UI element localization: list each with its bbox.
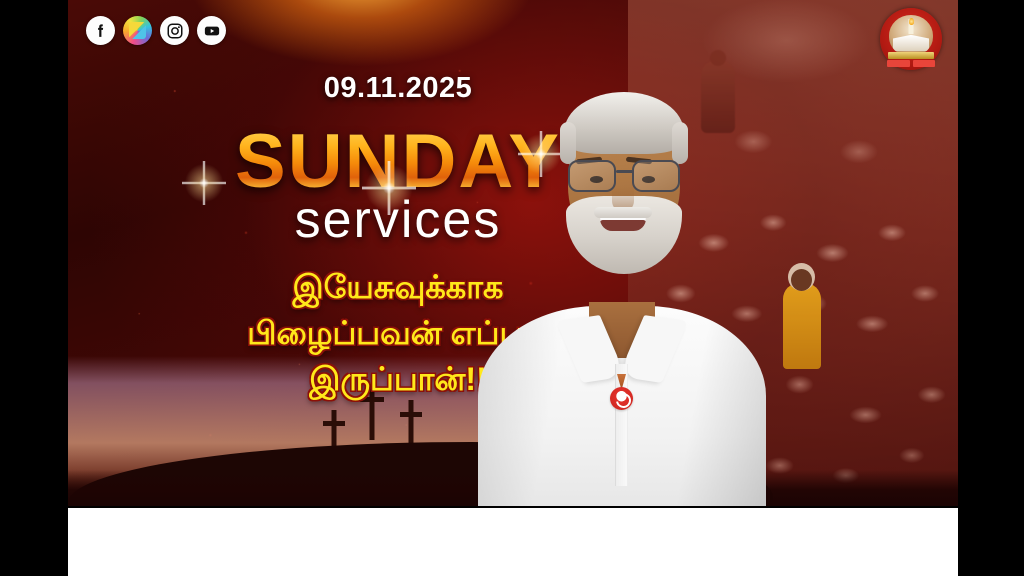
cross-right-icon	[400, 400, 422, 448]
emblem-inner	[889, 15, 933, 56]
multicolor-app-icon[interactable]	[123, 16, 152, 45]
letterbox-left	[0, 0, 68, 576]
glasses-bridge	[616, 170, 634, 173]
moustache	[594, 207, 652, 218]
letterbox-right	[958, 0, 1024, 576]
candle-icon	[909, 19, 914, 34]
lens-left	[568, 160, 616, 192]
video-stage: 09.11.2025 SUNDAY services இயேசுவுக்காக …	[68, 0, 958, 506]
lens-right	[632, 160, 680, 192]
flame-icon	[909, 18, 914, 25]
hair	[564, 92, 684, 154]
lower-white-panel	[68, 508, 958, 576]
ministry-logo[interactable]	[880, 8, 942, 70]
youtube-icon[interactable]	[197, 16, 226, 45]
social-icon-bar	[86, 16, 226, 45]
emblem-tag	[887, 60, 935, 67]
shirt-logo-badge	[610, 387, 633, 410]
instagram-icon[interactable]	[160, 16, 189, 45]
eyeglasses-icon	[564, 160, 684, 194]
facebook-icon[interactable]	[86, 16, 115, 45]
video-player: 09.11.2025 SUNDAY services இயேசுவுக்காக …	[0, 0, 1024, 576]
speaker-portrait	[472, 76, 772, 506]
open-book-icon	[893, 35, 929, 51]
woman-in-yellow-figure	[783, 283, 821, 369]
emblem-base	[888, 52, 934, 59]
mouth	[600, 216, 646, 231]
